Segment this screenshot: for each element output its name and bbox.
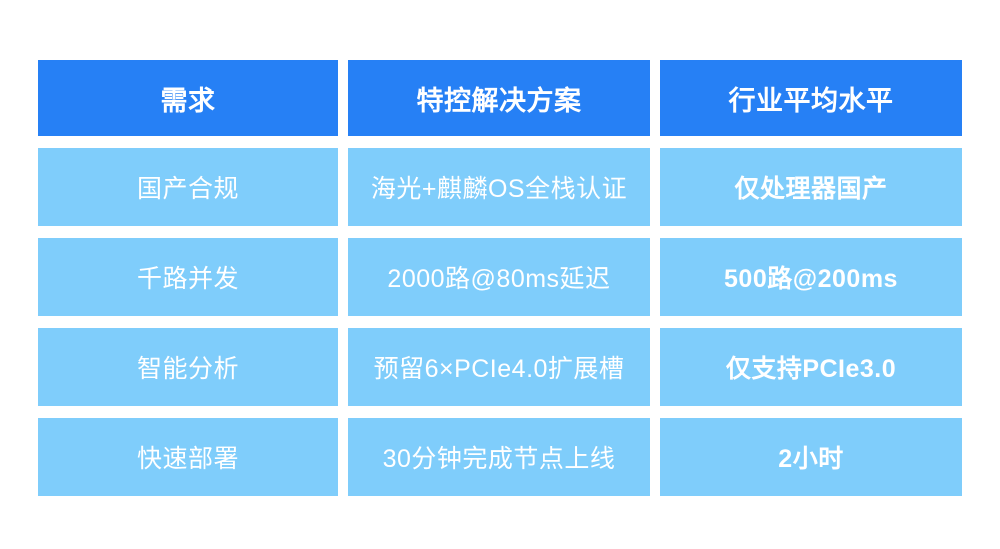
table-cell-requirement: 快速部署 [38, 418, 338, 496]
table-cell-solution: 预留6×PCIe4.0扩展槽 [348, 328, 650, 406]
table-cell-requirement: 国产合规 [38, 148, 338, 226]
table-cell-solution: 2000路@80ms延迟 [348, 238, 650, 316]
table-header-cell-solution: 特控解决方案 [348, 60, 650, 136]
table-cell-industry: 500路@200ms [660, 238, 962, 316]
table-cell-industry: 仅处理器国产 [660, 148, 962, 226]
slide-canvas: 需求 特控解决方案 行业平均水平 国产合规 海光+麒麟OS全栈认证 仅处理器国产… [0, 0, 1000, 549]
table-cell-industry: 仅支持PCIe3.0 [660, 328, 962, 406]
table-cell-industry: 2小时 [660, 418, 962, 496]
table-row: 国产合规 海光+麒麟OS全栈认证 仅处理器国产 [38, 148, 962, 226]
table-header-cell-industry: 行业平均水平 [660, 60, 962, 136]
table-header-cell-requirement: 需求 [38, 60, 338, 136]
table-header-row: 需求 特控解决方案 行业平均水平 [38, 60, 962, 136]
table-row: 千路并发 2000路@80ms延迟 500路@200ms [38, 238, 962, 316]
table-cell-solution: 30分钟完成节点上线 [348, 418, 650, 496]
comparison-table: 需求 特控解决方案 行业平均水平 国产合规 海光+麒麟OS全栈认证 仅处理器国产… [38, 60, 962, 496]
table-cell-requirement: 智能分析 [38, 328, 338, 406]
table-cell-requirement: 千路并发 [38, 238, 338, 316]
table-row: 快速部署 30分钟完成节点上线 2小时 [38, 418, 962, 496]
table-row: 智能分析 预留6×PCIe4.0扩展槽 仅支持PCIe3.0 [38, 328, 962, 406]
table-cell-solution: 海光+麒麟OS全栈认证 [348, 148, 650, 226]
